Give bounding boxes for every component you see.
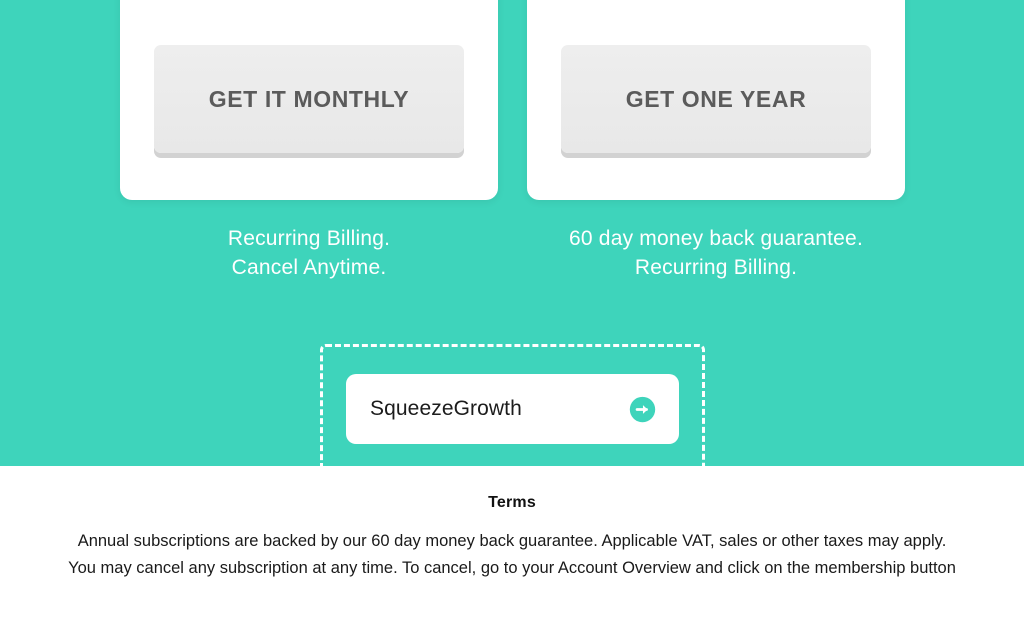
annual-caption-line-2: Recurring Billing. <box>527 253 905 282</box>
get-one-year-button[interactable]: GET ONE YEAR <box>561 45 871 153</box>
monthly-caption-line-1: Recurring Billing. <box>120 224 498 253</box>
annual-plan-caption: 60 day money back guarantee. Recurring B… <box>527 224 905 282</box>
pricing-page: GET IT MONTHLY GET ONE YEAR Recurring Bi… <box>0 0 1024 628</box>
squeezegrowth-link-card[interactable]: SqueezeGrowth <box>346 374 679 444</box>
get-one-year-label: GET ONE YEAR <box>561 49 871 149</box>
monthly-cta-wrap: GET IT MONTHLY <box>154 45 464 153</box>
pricing-cards: GET IT MONTHLY GET ONE YEAR <box>0 0 1024 200</box>
annual-caption-line-1: 60 day money back guarantee. <box>527 224 905 253</box>
arrow-right-circle-icon[interactable] <box>628 395 657 424</box>
get-it-monthly-label: GET IT MONTHLY <box>154 49 464 149</box>
annual-cta-wrap: GET ONE YEAR <box>561 45 871 153</box>
get-it-monthly-button[interactable]: GET IT MONTHLY <box>154 45 464 153</box>
terms-title: Terms <box>0 466 1024 512</box>
monthly-caption-line-2: Cancel Anytime. <box>120 253 498 282</box>
hero-section: GET IT MONTHLY GET ONE YEAR Recurring Bi… <box>0 0 1024 466</box>
terms-section: Terms Annual subscriptions are backed by… <box>0 466 1024 628</box>
monthly-plan-caption: Recurring Billing. Cancel Anytime. <box>120 224 498 282</box>
terms-line-2: You may cancel any subscription at any t… <box>0 555 1024 582</box>
pricing-card-monthly: GET IT MONTHLY <box>120 0 498 200</box>
terms-body: Annual subscriptions are backed by our 6… <box>0 512 1024 582</box>
squeezegrowth-label: SqueezeGrowth <box>370 397 522 421</box>
terms-line-1: Annual subscriptions are backed by our 6… <box>0 528 1024 555</box>
pricing-card-annual: GET ONE YEAR <box>527 0 905 200</box>
